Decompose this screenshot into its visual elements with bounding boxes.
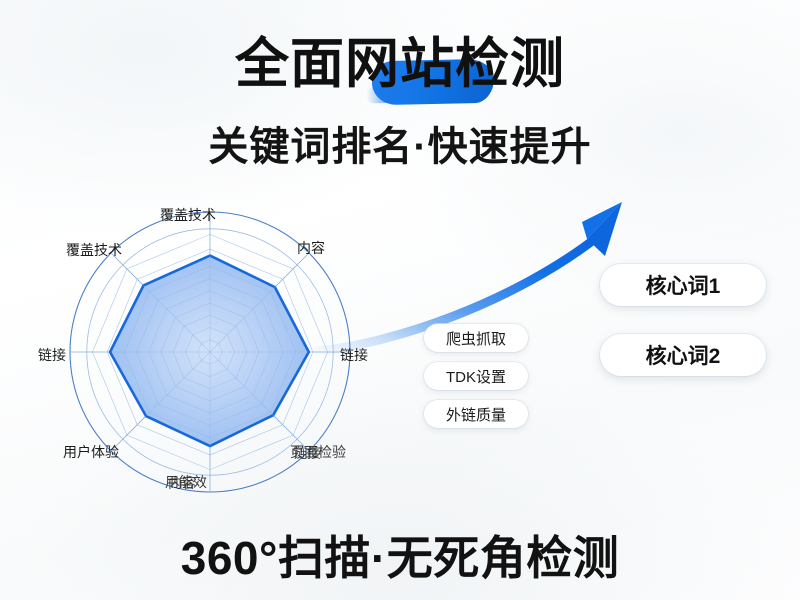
radar-series-area (110, 256, 309, 447)
bottom-headline: 360°扫描·无死角检测 (0, 522, 800, 588)
radar-label-5: 用户体验 (63, 442, 119, 462)
radar-label-7: 覆盖技术 (66, 240, 122, 260)
title-part-highlight: 网站 (345, 34, 455, 94)
radar-label-3: 页面检验 链接 (290, 442, 346, 462)
radar-label-3-ghost: 链接 (293, 443, 321, 463)
tag-pill-tdk[interactable]: TDK设置 (424, 362, 528, 390)
tag-pill-crawl[interactable]: 爬虫抓取 (424, 324, 528, 352)
page-title: 全面网站检测 (235, 36, 565, 93)
radar-label-1: 内容 (297, 238, 325, 258)
radar-inner-rings (112, 254, 308, 450)
radar-label-2: 链接 (340, 345, 368, 365)
arrow-head (587, 202, 622, 256)
title-part-prefix: 全面 (235, 34, 345, 94)
headline-block: 全面网站检测 (0, 36, 800, 93)
radar-label-4-ghost: 内容 (168, 473, 196, 493)
keyword-card-2[interactable]: 核心词2 (600, 334, 766, 376)
radar-label-0: 覆盖技术 (160, 205, 216, 225)
radar-chart: 覆盖技术 内容 链接 页面检验 链接 用能效 内容 用户体验 链接 覆盖技术 (20, 200, 400, 510)
keyword-card-1[interactable]: 核心词1 (600, 264, 766, 306)
radar-label-4: 用能效 内容 (165, 472, 207, 492)
arrow-head-edge (582, 202, 622, 239)
page-subtitle: 关键词排名·快速提升 (0, 114, 800, 172)
title-part-suffix: 检测 (455, 34, 565, 94)
tag-pill-backlink[interactable]: 外链质量 (424, 400, 528, 428)
poster-canvas: 全面网站检测 关键词排名·快速提升 覆盖技术 内容 链接 页面检验 链接 (0, 0, 800, 600)
radar-label-6: 链接 (38, 345, 66, 365)
